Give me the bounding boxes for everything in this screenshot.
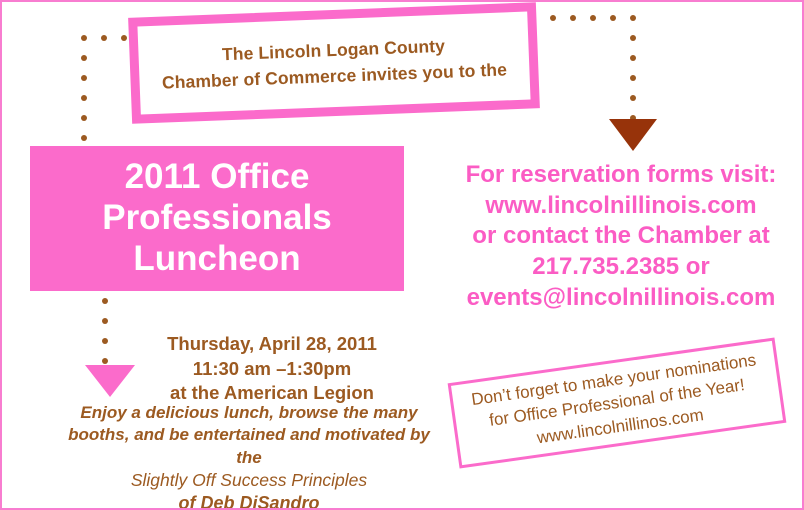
event-description: Enjoy a delicious lunch, browse the many… bbox=[54, 402, 444, 510]
event-details: Thursday, April 28, 2011 11:30 am –1:30p… bbox=[107, 332, 437, 406]
path-dot bbox=[81, 75, 87, 81]
path-dot bbox=[550, 15, 556, 21]
nominations-text: Don’t forget to make your nominations fo… bbox=[470, 348, 764, 458]
path-dot bbox=[81, 135, 87, 141]
path-dot bbox=[630, 15, 636, 21]
reservation-line-1: For reservation forms visit: bbox=[442, 160, 800, 191]
path-dot bbox=[81, 55, 87, 61]
program-title: Slightly Off Success Principles bbox=[54, 469, 444, 492]
path-dot bbox=[81, 35, 87, 41]
title-line-3: Luncheon bbox=[102, 239, 332, 280]
path-dot bbox=[630, 75, 636, 81]
path-dot bbox=[630, 35, 636, 41]
path-dot bbox=[81, 95, 87, 101]
title-line-2: Professionals bbox=[102, 198, 332, 239]
path-dot bbox=[590, 15, 596, 21]
nominations-box: Don’t forget to make your nominations fo… bbox=[448, 337, 787, 468]
reservation-phone[interactable]: 217.735.2385 or bbox=[442, 252, 800, 283]
title-line-1: 2011 Office bbox=[102, 157, 332, 198]
reservation-line-3: or contact the Chamber at bbox=[442, 221, 800, 252]
event-title-text: 2011 Office Professionals Luncheon bbox=[102, 157, 332, 280]
reservation-email[interactable]: events@lincolnillinois.com bbox=[442, 283, 800, 314]
description-line-2: booths, and be entertained and motivated… bbox=[54, 424, 444, 446]
path-dot bbox=[81, 115, 87, 121]
reservation-info: For reservation forms visit: www.lincoln… bbox=[442, 160, 800, 314]
path-dot bbox=[570, 15, 576, 21]
description-line-1: Enjoy a delicious lunch, browse the many bbox=[54, 402, 444, 424]
flyer-canvas: The Lincoln Logan County Chamber of Comm… bbox=[0, 0, 804, 510]
invitation-box: The Lincoln Logan County Chamber of Comm… bbox=[128, 2, 540, 124]
invitation-text: The Lincoln Logan County Chamber of Comm… bbox=[161, 30, 508, 96]
speaker-name: of Deb DiSandro bbox=[54, 492, 444, 510]
event-title-block: 2011 Office Professionals Luncheon bbox=[30, 146, 404, 291]
event-time: 11:30 am –1:30pm bbox=[107, 357, 437, 382]
brown-arrowhead-icon bbox=[609, 119, 657, 151]
reservation-website[interactable]: www.lincolnillinois.com bbox=[442, 191, 800, 222]
path-dot bbox=[610, 15, 616, 21]
path-dot bbox=[101, 35, 107, 41]
path-dot bbox=[102, 298, 108, 304]
path-dot bbox=[630, 95, 636, 101]
path-dot bbox=[121, 35, 127, 41]
path-dot bbox=[102, 318, 108, 324]
description-line-3: the bbox=[54, 447, 444, 469]
path-dot bbox=[630, 55, 636, 61]
event-date: Thursday, April 28, 2011 bbox=[107, 332, 437, 357]
